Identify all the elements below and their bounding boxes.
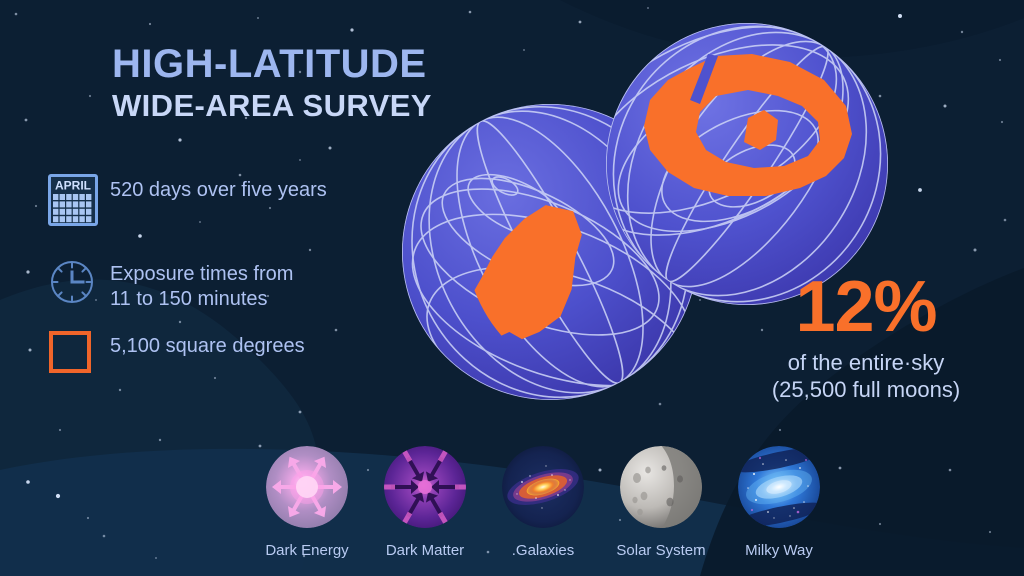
clock-icon xyxy=(48,256,110,306)
category-label: .Galaxies xyxy=(484,542,602,559)
stat-item-days: APRIL xyxy=(48,172,408,226)
milky-way-icon xyxy=(738,446,820,528)
infographic-canvas: HIGH-LATITUDE WIDE-AREA SURVEY APRIL xyxy=(0,0,1024,576)
calendar-month-label: APRIL xyxy=(55,179,91,193)
title-line-1: HIGH-LATITUDE xyxy=(112,44,432,84)
survey-stats-list: APRIL xyxy=(48,172,408,396)
sky-coverage-callout: 12% of the entire·sky (25,500 full moons… xyxy=(716,272,1016,405)
category-dark-matter[interactable]: Dark Matter xyxy=(366,446,484,559)
solar-system-icon xyxy=(620,446,702,528)
category-label: Milky Way xyxy=(720,542,838,559)
calendar-icon: APRIL xyxy=(48,172,110,226)
category-solar-system[interactable]: Solar System xyxy=(602,446,720,559)
title-line-2: WIDE-AREA SURVEY xyxy=(112,88,432,124)
science-categories-row: Dark Energy xyxy=(248,446,868,559)
coverage-subtitle: of the entire·sky xyxy=(716,349,1016,377)
page-title: HIGH-LATITUDE WIDE-AREA SURVEY xyxy=(112,44,432,124)
stat-text-area: 5,100 square degrees xyxy=(110,328,305,359)
category-milky-way[interactable]: Milky Way xyxy=(720,446,838,559)
category-dark-energy[interactable]: Dark Energy xyxy=(248,446,366,559)
category-galaxies[interactable]: .Galaxies xyxy=(484,446,602,559)
galaxies-icon xyxy=(502,446,584,528)
stat-item-area: 5,100 square degrees xyxy=(48,328,408,374)
category-label: Solar System xyxy=(602,542,720,559)
stat-text-days: 520 days over five years xyxy=(110,172,327,203)
dark-matter-icon xyxy=(384,446,466,528)
square-outline-icon xyxy=(48,328,110,374)
category-label: Dark Energy xyxy=(248,542,366,559)
coverage-equivalent: (25,500 full moons) xyxy=(716,376,1016,405)
stat-text-exposure: Exposure times from 11 to 150 minutes xyxy=(110,256,293,312)
stat-item-exposure: Exposure times from 11 to 150 minutes xyxy=(48,256,408,312)
dark-energy-icon xyxy=(266,446,348,528)
category-label: Dark Matter xyxy=(366,542,484,559)
coverage-percent: 12% xyxy=(716,272,1016,343)
